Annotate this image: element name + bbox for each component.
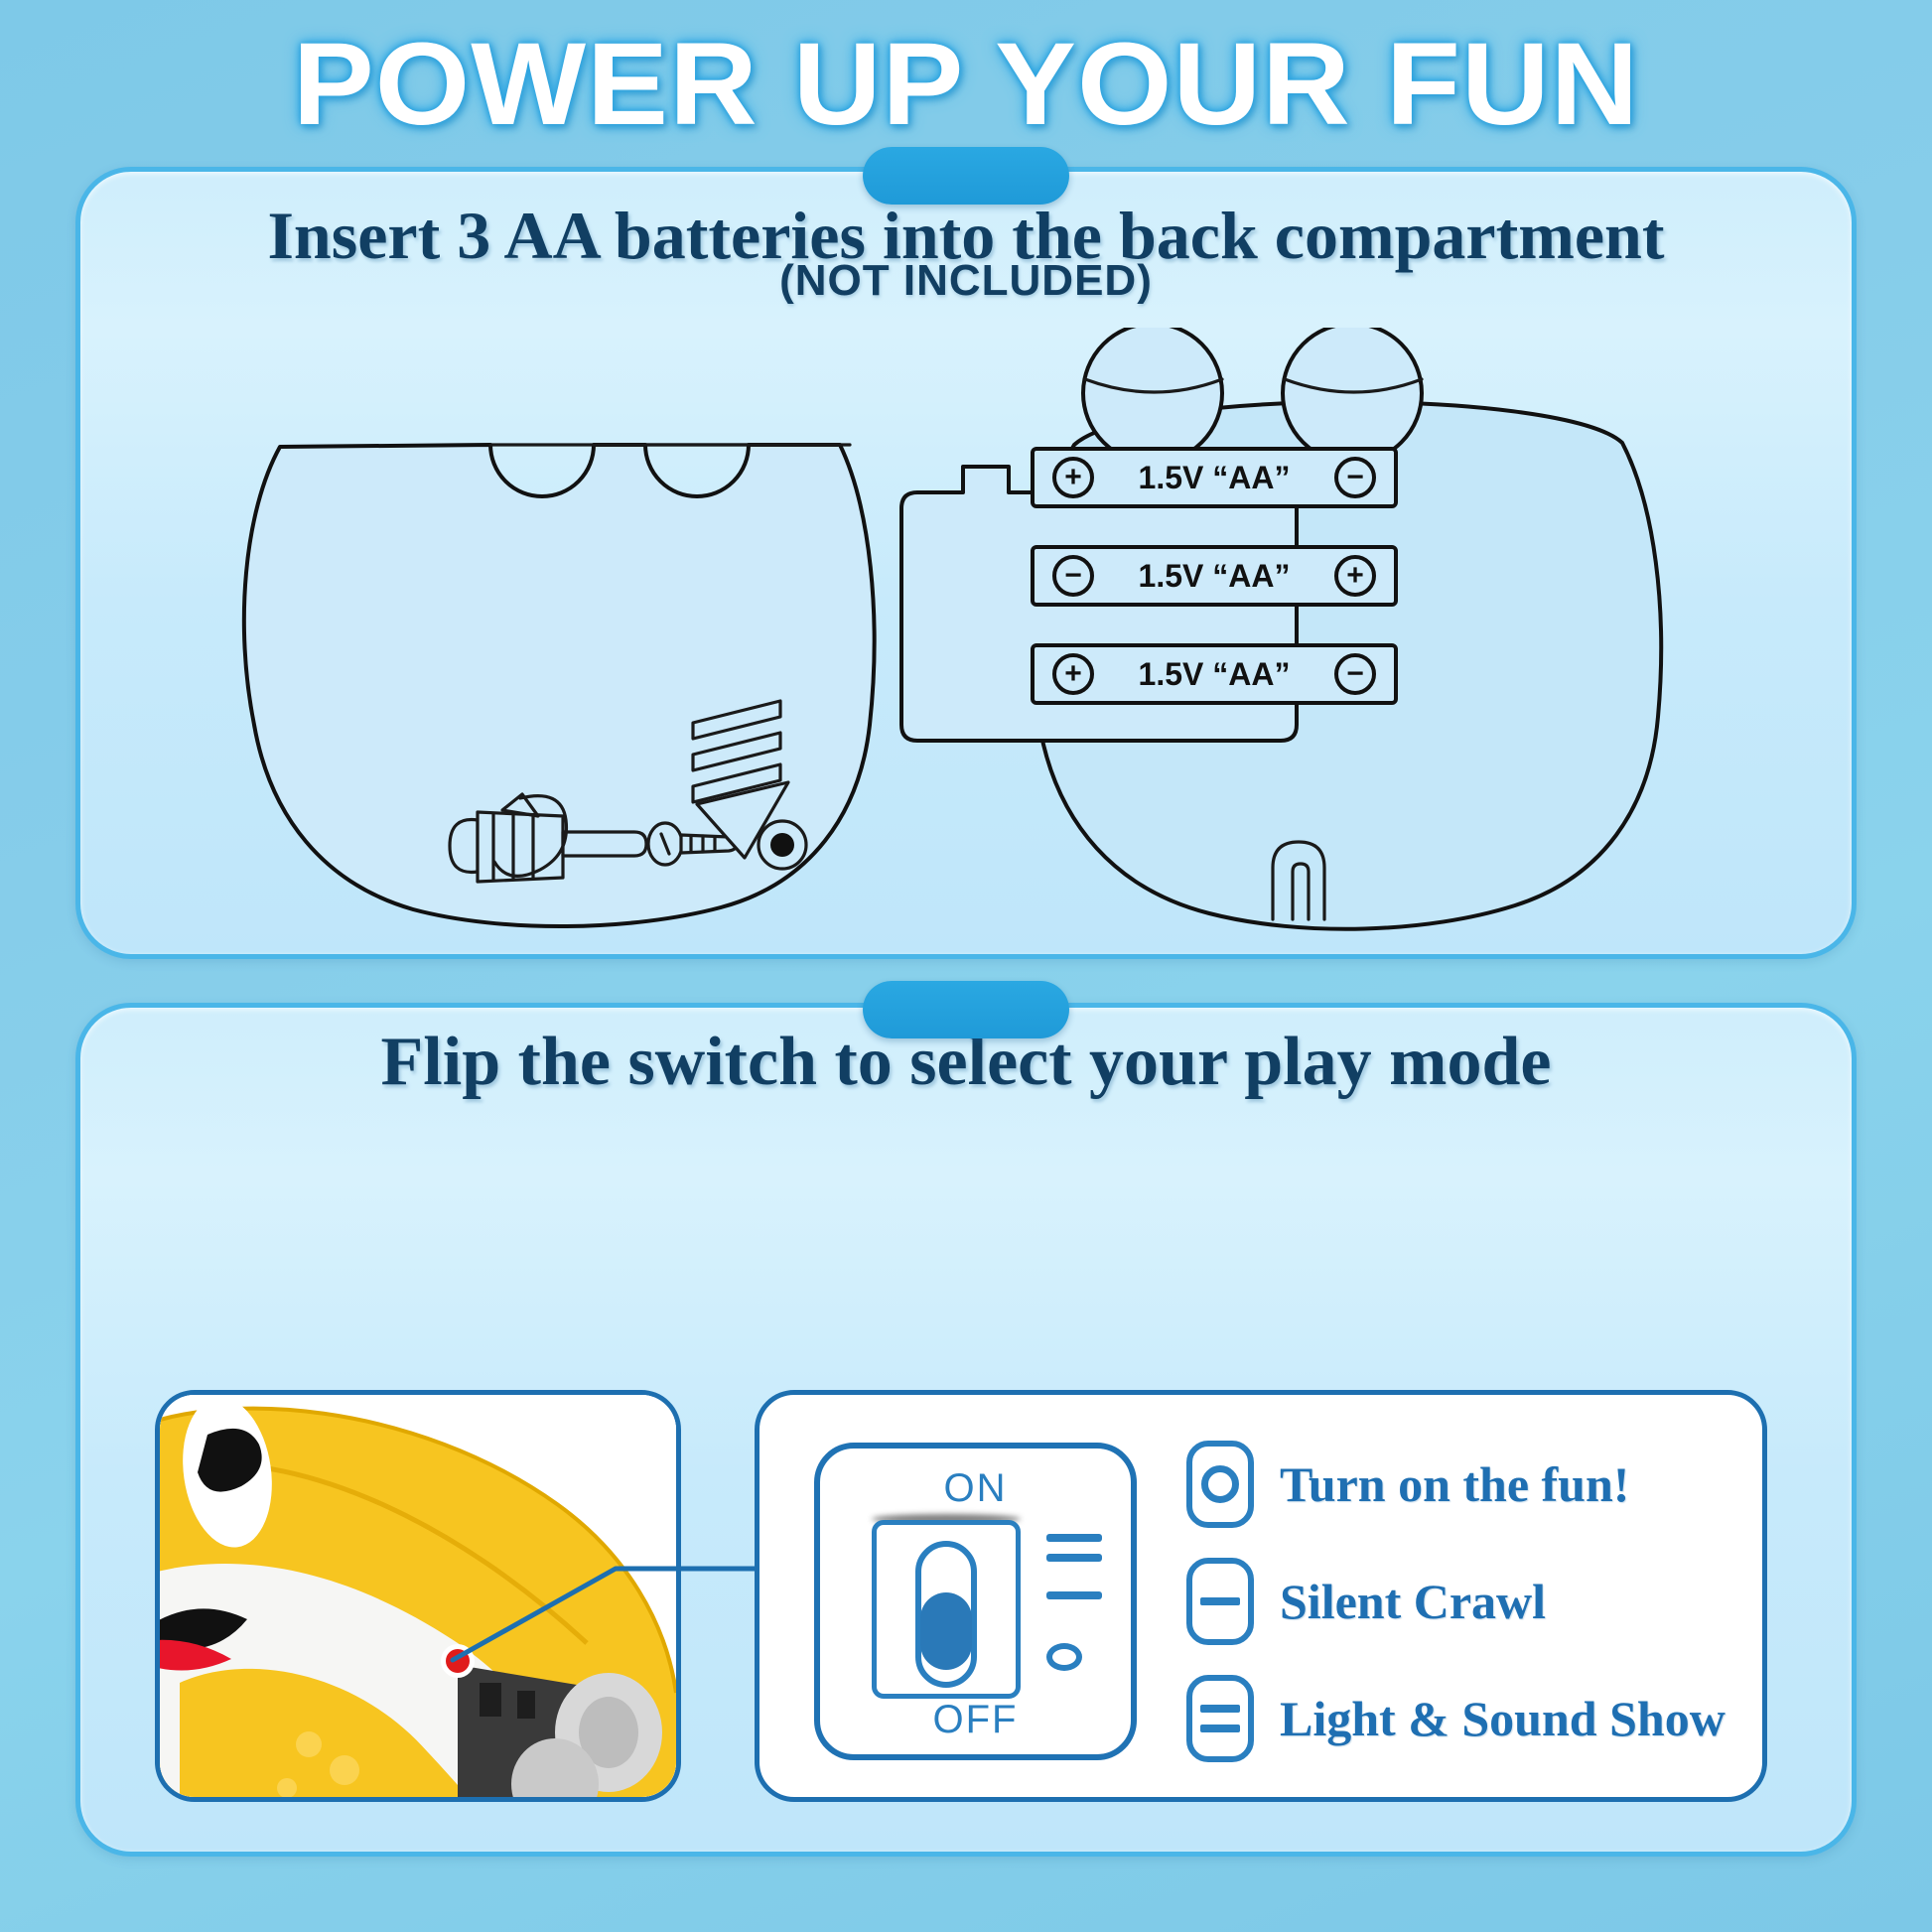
- double-dash-mark-icon: [1046, 1534, 1102, 1562]
- play-mode-list: Turn on the fun! Silent Crawl Light & So…: [1186, 1433, 1742, 1770]
- switch-detail-card: ON OFF Turn on the fun! Silen: [755, 1390, 1767, 1802]
- circle-mark-icon: [1046, 1643, 1082, 1671]
- switch-position-marks: [1046, 1534, 1106, 1693]
- toggle-knob[interactable]: [920, 1592, 972, 1670]
- play-mode-row[interactable]: Silent Crawl: [1186, 1558, 1546, 1645]
- battery-terminal-left: +: [1052, 653, 1094, 695]
- led-dome-left: [1083, 328, 1222, 463]
- play-mode-label: Turn on the fun!: [1280, 1455, 1629, 1513]
- step-1-subheading: (NOT INCLUDED): [0, 256, 1932, 306]
- switch-off-label: OFF: [820, 1698, 1131, 1742]
- toggle-frame[interactable]: [872, 1520, 1021, 1699]
- panel-1-tab-connector: [863, 147, 1069, 205]
- battery-terminal-right: −: [1334, 653, 1376, 695]
- single-dash-mark-icon: [1046, 1591, 1102, 1599]
- screw-hole-icon: [759, 821, 806, 869]
- play-mode-row[interactable]: Turn on the fun!: [1186, 1441, 1629, 1528]
- battery-slot: − 1.5V “AA” +: [1031, 545, 1398, 607]
- led-dome-right: [1283, 328, 1422, 463]
- battery-label: 1.5V “AA”: [1139, 460, 1291, 496]
- battery-terminal-left: −: [1052, 555, 1094, 597]
- panel-2-tab-connector: [863, 981, 1069, 1038]
- page-title: POWER UP YOUR FUN: [293, 17, 1639, 152]
- battery-label: 1.5V “AA”: [1139, 558, 1291, 595]
- battery-slot-list: + 1.5V “AA” − − 1.5V “AA” + + 1.5V “AA” …: [1031, 447, 1398, 705]
- battery-slot: + 1.5V “AA” −: [1031, 643, 1398, 705]
- switch-on-label: ON: [820, 1466, 1131, 1511]
- single-dash-icon: [1186, 1558, 1254, 1645]
- double-dash-icon: [1186, 1675, 1254, 1762]
- battery-terminal-left: +: [1052, 457, 1094, 498]
- play-mode-row[interactable]: Light & Sound Show: [1186, 1675, 1725, 1762]
- play-mode-label: Silent Crawl: [1280, 1573, 1546, 1630]
- battery-label: 1.5V “AA”: [1139, 656, 1291, 693]
- toy-photo-card: [155, 1390, 681, 1802]
- title-bar: POWER UP YOUR FUN: [0, 20, 1932, 149]
- play-mode-label: Light & Sound Show: [1280, 1690, 1725, 1747]
- toy-photo: [160, 1395, 676, 1797]
- toy-dimple: [330, 1755, 359, 1785]
- switch-illustration[interactable]: ON OFF: [814, 1443, 1137, 1760]
- circle-icon: [1186, 1441, 1254, 1528]
- switch-indicator-dot: [446, 1649, 470, 1673]
- toy-dimple: [296, 1731, 322, 1757]
- toggle-track[interactable]: [915, 1541, 977, 1688]
- battery-terminal-right: +: [1334, 555, 1376, 597]
- battery-slot: + 1.5V “AA” −: [1031, 447, 1398, 508]
- battery-terminal-right: −: [1334, 457, 1376, 498]
- battery-compartment-diagram: .ln{ fill:none; stroke:#1a1a1a; stroke-w…: [75, 328, 1857, 953]
